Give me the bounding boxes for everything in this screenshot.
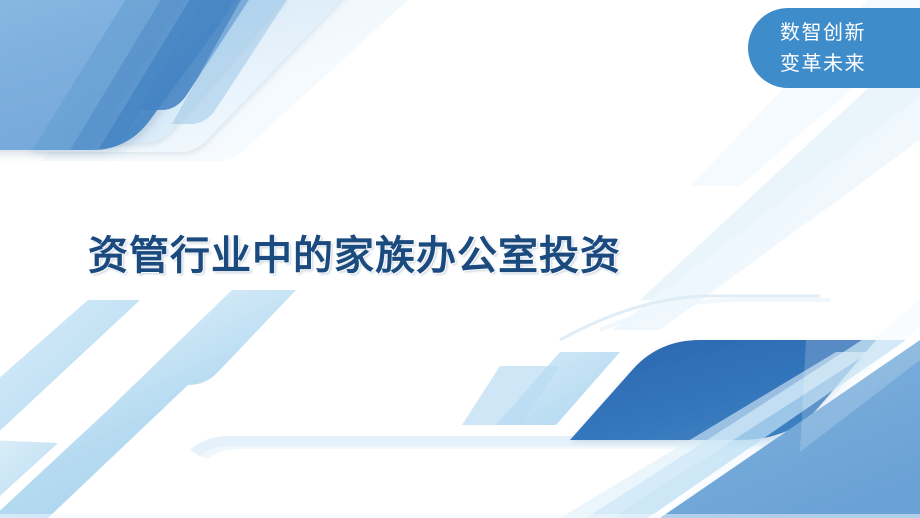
top-left-echo-pale-1: [20, 0, 300, 143]
slogan-line-1: 数智创新: [780, 17, 920, 48]
bottom-ledge-band: [190, 436, 920, 459]
bottom-right-pale-sliver: [560, 340, 906, 518]
bottom-right-triangle: [660, 340, 920, 518]
bottom-right-dark-shape: [570, 340, 876, 440]
bottom-left-band-outer: [0, 316, 124, 518]
slogan-badge: 数智创新 变革未来: [748, 8, 920, 88]
top-left-echo-faint: [40, 0, 430, 161]
bottom-right-fade: [800, 340, 920, 452]
bottom-left-band-1: [0, 300, 140, 505]
top-left-diagonal-bands: [20, 0, 258, 170]
bottom-left-sweep-band: [0, 288, 920, 518]
bottom-right-pale-slab: [462, 352, 620, 425]
bottom-edge-highlight: [0, 514, 920, 518]
top-left-echo-pale-2: [30, 0, 360, 152]
slide-title: 资管行业中的家族办公室投资: [88, 232, 621, 280]
right-faint-edge: [660, 300, 920, 518]
slogan-line-2: 变革未来: [780, 48, 920, 79]
slide-canvas: 数智创新 变革未来 资管行业中的家族办公室投资: [0, 0, 920, 518]
top-left-main-shape: [0, 0, 252, 150]
bottom-right-outline-curve: [560, 296, 830, 340]
top-left-band-overflow: [138, 0, 300, 124]
